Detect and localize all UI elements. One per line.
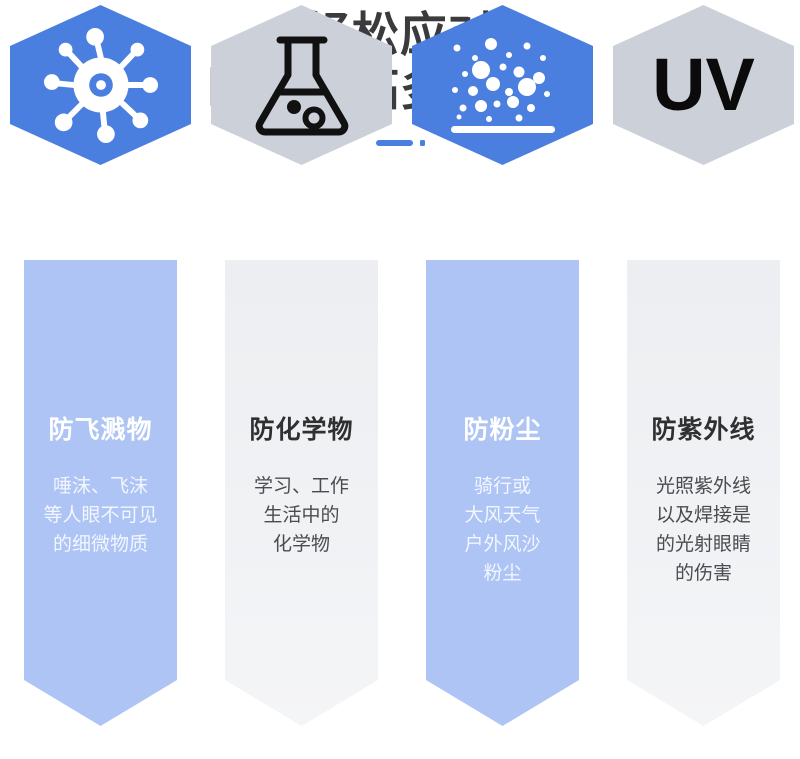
card-title: 防粉尘 [402,410,603,446]
card-title: 防化学物 [201,410,402,446]
promo-banner: 轻松应对 眼睛面临多种威胁 [0,0,800,759]
card-description: 学习、工作 生活中的 化学物 [201,472,402,559]
card-description: 骑行或 大风天气 户外风沙 粉尘 [402,472,603,588]
card-title: 防紫外线 [603,410,800,446]
uv-label-text: UV [652,48,755,122]
germ-icon [10,5,191,165]
flask-icon [211,5,392,165]
card-description: 唾沫、飞沫 等人眼不可见 的细微物质 [0,472,201,559]
feature-card[interactable]: 防粉尘 骑行或 大风天气 户外风沙 粉尘 [402,0,603,759]
feature-card[interactable]: 防化学物 学习、工作 生活中的 化学物 [201,0,402,759]
dust-icon [412,5,593,165]
card-title: 防飞溅物 [0,410,201,446]
feature-card[interactable]: UV 防紫外线 光照紫外线 以及焊接是 的光射眼睛 的伤害 [603,0,800,759]
feature-card-list: 防飞溅物 唾沫、飞沫 等人眼不可见 的细微物质 [0,0,800,759]
card-description: 光照紫外线 以及焊接是 的光射眼睛 的伤害 [603,472,800,588]
uv-label-icon: UV [613,5,794,165]
feature-card[interactable]: 防飞溅物 唾沫、飞沫 等人眼不可见 的细微物质 [0,0,201,759]
